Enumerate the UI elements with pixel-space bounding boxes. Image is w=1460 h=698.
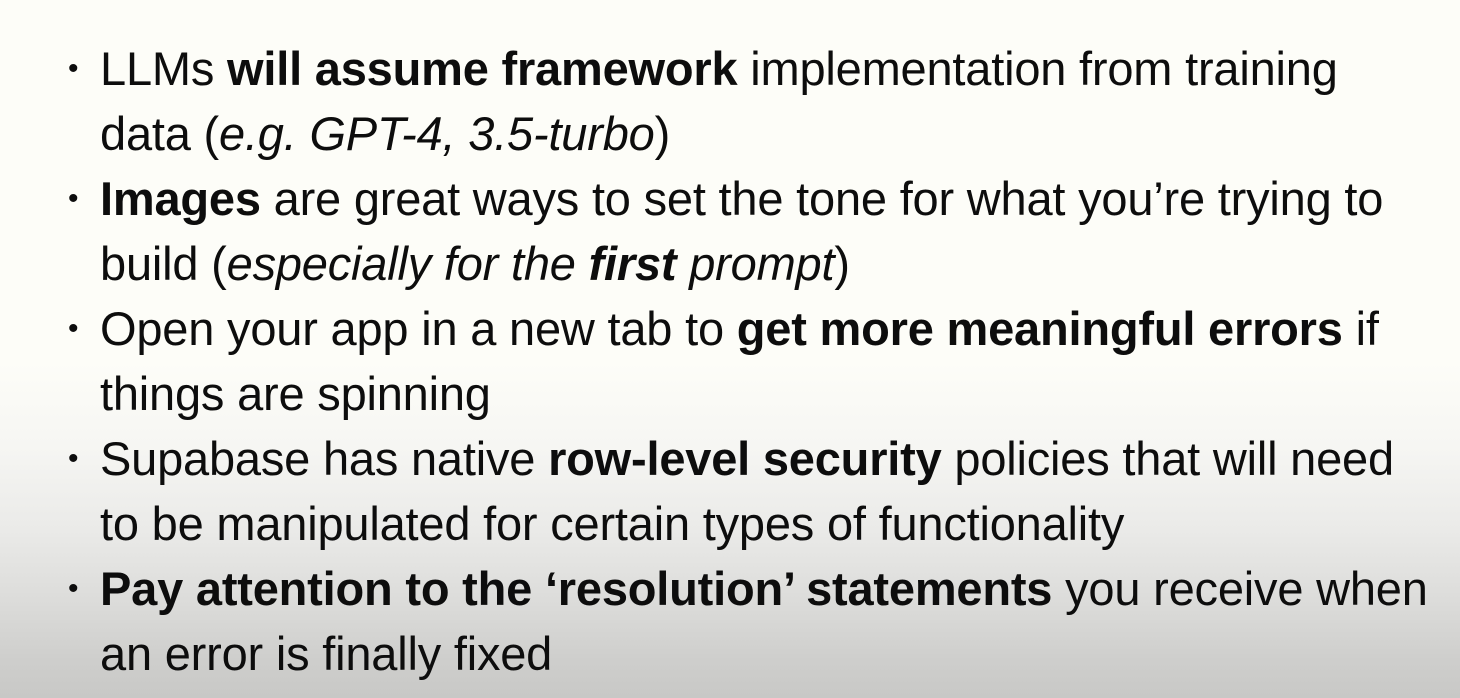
bullet-resolution-statements: Pay attention to the ‘resolution’ statem… (100, 562, 1428, 680)
list-item: •Open your app in a new tab to get more … (60, 296, 1440, 426)
text-run: Open your app in a new tab to (100, 302, 737, 355)
text-run: ) (834, 237, 849, 290)
text-run: Images (100, 172, 261, 225)
bullet-list: •LLMs will assume framework implementati… (0, 0, 1460, 686)
bullet-dot-icon: • (68, 296, 82, 361)
bullet-dot-icon: • (68, 36, 82, 101)
bullet-dot-icon: • (68, 426, 82, 491)
text-run: e.g. GPT-4, 3.5-turbo (219, 107, 655, 160)
text-run: first (589, 237, 677, 290)
text-run: will assume framework (227, 42, 737, 95)
list-item: •LLMs will assume framework implementati… (60, 36, 1440, 166)
text-run: LLMs (100, 42, 227, 95)
list-item: •Pay attention to the ‘resolution’ state… (60, 556, 1440, 686)
list-item: •Supabase has native row-level security … (60, 426, 1440, 556)
text-run: get more meaningful errors (737, 302, 1343, 355)
slide-canvas: •LLMs will assume framework implementati… (0, 0, 1460, 698)
bullet-open-app-new-tab: Open your app in a new tab to get more m… (100, 302, 1379, 420)
list-item: •Images are great ways to set the tone f… (60, 166, 1440, 296)
text-run: prompt (676, 237, 834, 290)
bullet-dot-icon: • (68, 166, 82, 231)
text-run: ) (655, 107, 670, 160)
bullet-dot-icon: • (68, 556, 82, 621)
text-run: especially for the (227, 237, 589, 290)
bullet-images-set-tone: Images are great ways to set the tone fo… (100, 172, 1383, 290)
bullet-llms-assume-framework: LLMs will assume framework implementatio… (100, 42, 1338, 160)
text-run: Supabase has native (100, 432, 548, 485)
text-run: row-level security (548, 432, 941, 485)
text-run: Pay attention to the ‘resolution’ statem… (100, 562, 1052, 615)
bullet-supabase-row-level-security: Supabase has native row-level security p… (100, 432, 1394, 550)
